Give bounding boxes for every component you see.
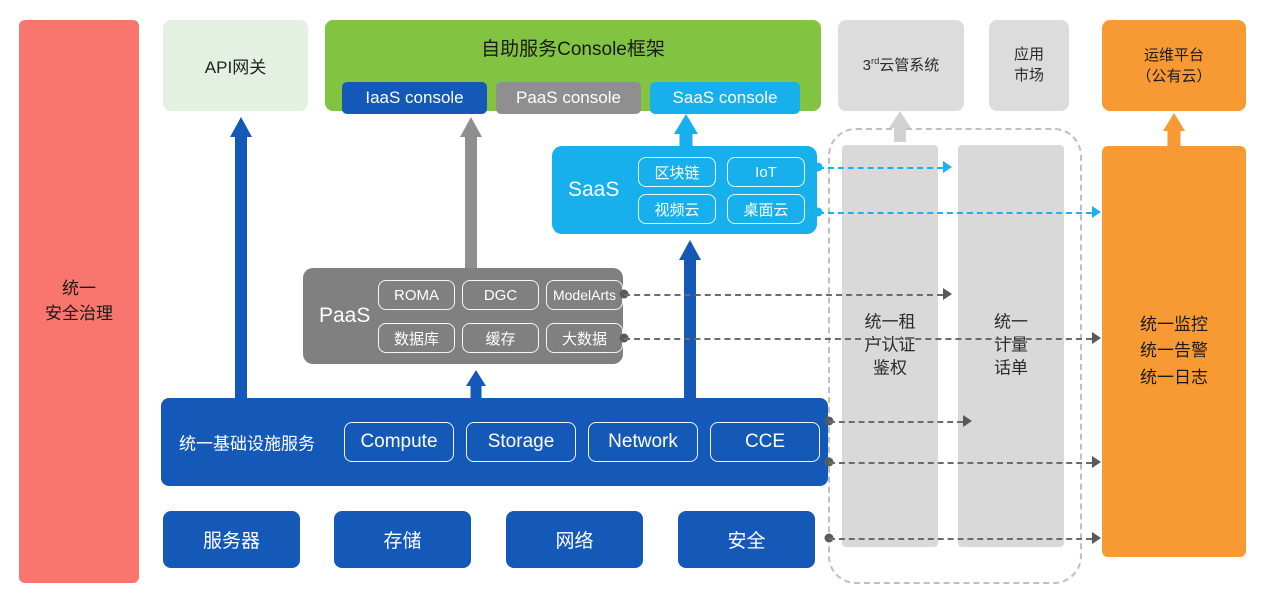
paas-item-dgc[interactable]: DGC xyxy=(462,280,539,310)
paas-item-roma[interactable]: ROMA xyxy=(378,280,455,310)
app-market-label-line1: 应用 xyxy=(1014,45,1044,65)
hardware-item-security[interactable]: 安全 xyxy=(678,511,815,568)
arrow-ops-column-to-ops-platform xyxy=(1159,113,1189,147)
ops-column-line2: 统一告警 xyxy=(1140,338,1208,364)
unified-infrastructure-bar: 统一基础设施服务 Compute Storage Network CCE xyxy=(161,398,828,486)
third-party-cloud-management-box[interactable]: 3rd云管系统 xyxy=(838,20,964,111)
saas-item-iot[interactable]: IoT xyxy=(727,157,805,187)
api-gateway-label: API网关 xyxy=(205,53,266,78)
hardware-item-security-label: 安全 xyxy=(727,526,765,553)
hardware-item-storage-label: 存储 xyxy=(383,526,421,553)
saas-layer-label: SaaS xyxy=(568,178,619,202)
unified-metering-billing-column: 统一 计量 话单 xyxy=(958,145,1064,547)
paas-console-label: PaaS console xyxy=(516,88,621,108)
unified-tenant-auth-label: 统一租 户认证 鉴权 xyxy=(842,312,938,381)
iaas-item-compute-label: Compute xyxy=(360,431,437,453)
app-market-label-line2: 市场 xyxy=(1014,66,1044,86)
self-service-console-frame: 自助服务Console框架 IaaS console PaaS console … xyxy=(325,20,821,111)
ops-column-line3: 统一日志 xyxy=(1140,365,1208,391)
connector-iaas-to-auth xyxy=(829,421,963,423)
api-gateway-box[interactable]: API网关 xyxy=(163,20,308,111)
saas-item-video-cloud-label: 视频云 xyxy=(654,199,699,220)
connector-arrowhead-paas-auth xyxy=(943,288,952,300)
connector-hardware-to-ops xyxy=(829,538,1092,540)
arrow-iaas-to-api-gateway xyxy=(226,117,256,398)
governance-label-line1: 统一 xyxy=(62,277,96,302)
hardware-item-network[interactable]: 网络 xyxy=(506,511,643,568)
iaas-item-network[interactable]: Network xyxy=(588,422,698,462)
iaas-item-network-label: Network xyxy=(608,431,678,453)
paas-item-modelarts-label: ModelArts xyxy=(553,287,616,303)
connector-arrowhead-iaas-auth xyxy=(963,415,972,427)
paas-console-chip[interactable]: PaaS console xyxy=(496,82,641,114)
arrow-shared-to-third-party xyxy=(885,111,915,142)
iaas-item-cce[interactable]: CCE xyxy=(710,422,820,462)
ops-monitoring-column: 统一监控 统一告警 统一日志 xyxy=(1102,146,1246,557)
paas-item-database-label: 数据库 xyxy=(394,328,439,349)
connector-arrowhead-saas-auth xyxy=(943,161,952,173)
iaas-item-storage[interactable]: Storage xyxy=(466,422,576,462)
paas-item-roma-label: ROMA xyxy=(394,287,439,304)
saas-item-video-cloud[interactable]: 视频云 xyxy=(638,194,716,224)
connector-paas-to-ops xyxy=(624,338,1092,340)
unified-infrastructure-label: 统一基础设施服务 xyxy=(179,430,315,455)
paas-item-modelarts[interactable]: ModelArts xyxy=(546,280,623,310)
saas-item-desktop-cloud[interactable]: 桌面云 xyxy=(727,194,805,224)
unified-security-governance-panel: 统一 安全治理 xyxy=(19,20,139,583)
iaas-item-storage-label: Storage xyxy=(488,431,555,453)
iaas-console-label: IaaS console xyxy=(365,88,463,108)
third-party-cloud-management-label: 3rd云管系统 xyxy=(863,55,940,76)
connector-arrowhead-iaas-ops xyxy=(1092,456,1101,468)
arrow-saas-to-console xyxy=(670,114,702,147)
iaas-item-cce-label: CCE xyxy=(745,431,785,453)
hardware-item-storage[interactable]: 存储 xyxy=(334,511,471,568)
arrow-iaas-to-saas xyxy=(675,240,705,398)
paas-item-cache-label: 缓存 xyxy=(485,328,515,349)
ops-platform-label-line2: （公有云） xyxy=(1136,66,1211,87)
paas-layer-label: PaaS xyxy=(319,304,370,328)
paas-layer-box: PaaS ROMA DGC ModelArts 数据库 缓存 大数据 xyxy=(303,268,623,364)
saas-item-desktop-cloud-label: 桌面云 xyxy=(743,199,788,220)
connector-saas-to-ops xyxy=(818,212,1092,214)
unified-metering-billing-label: 统一 计量 话单 xyxy=(958,312,1064,381)
saas-layer-box: SaaS 区块链 IoT 视频云 桌面云 xyxy=(552,146,817,234)
saas-console-label: SaaS console xyxy=(673,88,778,108)
saas-item-iot-label: IoT xyxy=(755,164,777,181)
hardware-item-server-label: 服务器 xyxy=(203,526,260,553)
paas-item-bigdata-label: 大数据 xyxy=(562,328,607,349)
connector-arrowhead-saas-ops xyxy=(1092,206,1101,218)
arrow-paas-to-console xyxy=(456,117,486,268)
ops-platform-label-line1: 运维平台 xyxy=(1144,45,1204,66)
connector-saas-to-auth xyxy=(818,167,943,169)
paas-item-dgc-label: DGC xyxy=(484,287,517,304)
iaas-console-chip[interactable]: IaaS console xyxy=(342,82,487,114)
saas-item-blockchain-label: 区块链 xyxy=(654,162,699,183)
architecture-diagram: 统一 安全治理 API网关 自助服务Console框架 IaaS console… xyxy=(0,0,1265,605)
ops-column-line1: 统一监控 xyxy=(1140,312,1208,338)
connector-arrowhead-paas-ops xyxy=(1092,332,1101,344)
connector-iaas-to-ops xyxy=(829,462,1092,464)
app-market-box[interactable]: 应用 市场 xyxy=(989,20,1069,111)
connector-arrowhead-hardware-ops xyxy=(1092,532,1101,544)
ops-platform-public-cloud-box[interactable]: 运维平台 （公有云） xyxy=(1102,20,1246,111)
paas-item-database[interactable]: 数据库 xyxy=(378,323,455,353)
iaas-item-compute[interactable]: Compute xyxy=(344,422,454,462)
console-frame-title: 自助服务Console框架 xyxy=(325,34,821,61)
saas-item-blockchain[interactable]: 区块链 xyxy=(638,157,716,187)
hardware-item-server[interactable]: 服务器 xyxy=(163,511,300,568)
hardware-item-network-label: 网络 xyxy=(555,526,593,553)
saas-console-chip[interactable]: SaaS console xyxy=(650,82,800,114)
governance-label-line2: 安全治理 xyxy=(45,302,113,327)
paas-item-cache[interactable]: 缓存 xyxy=(462,323,539,353)
unified-tenant-auth-column: 统一租 户认证 鉴权 xyxy=(842,145,938,547)
arrow-iaas-to-paas xyxy=(462,370,490,399)
paas-item-bigdata[interactable]: 大数据 xyxy=(546,323,623,353)
connector-paas-to-auth xyxy=(624,294,943,296)
